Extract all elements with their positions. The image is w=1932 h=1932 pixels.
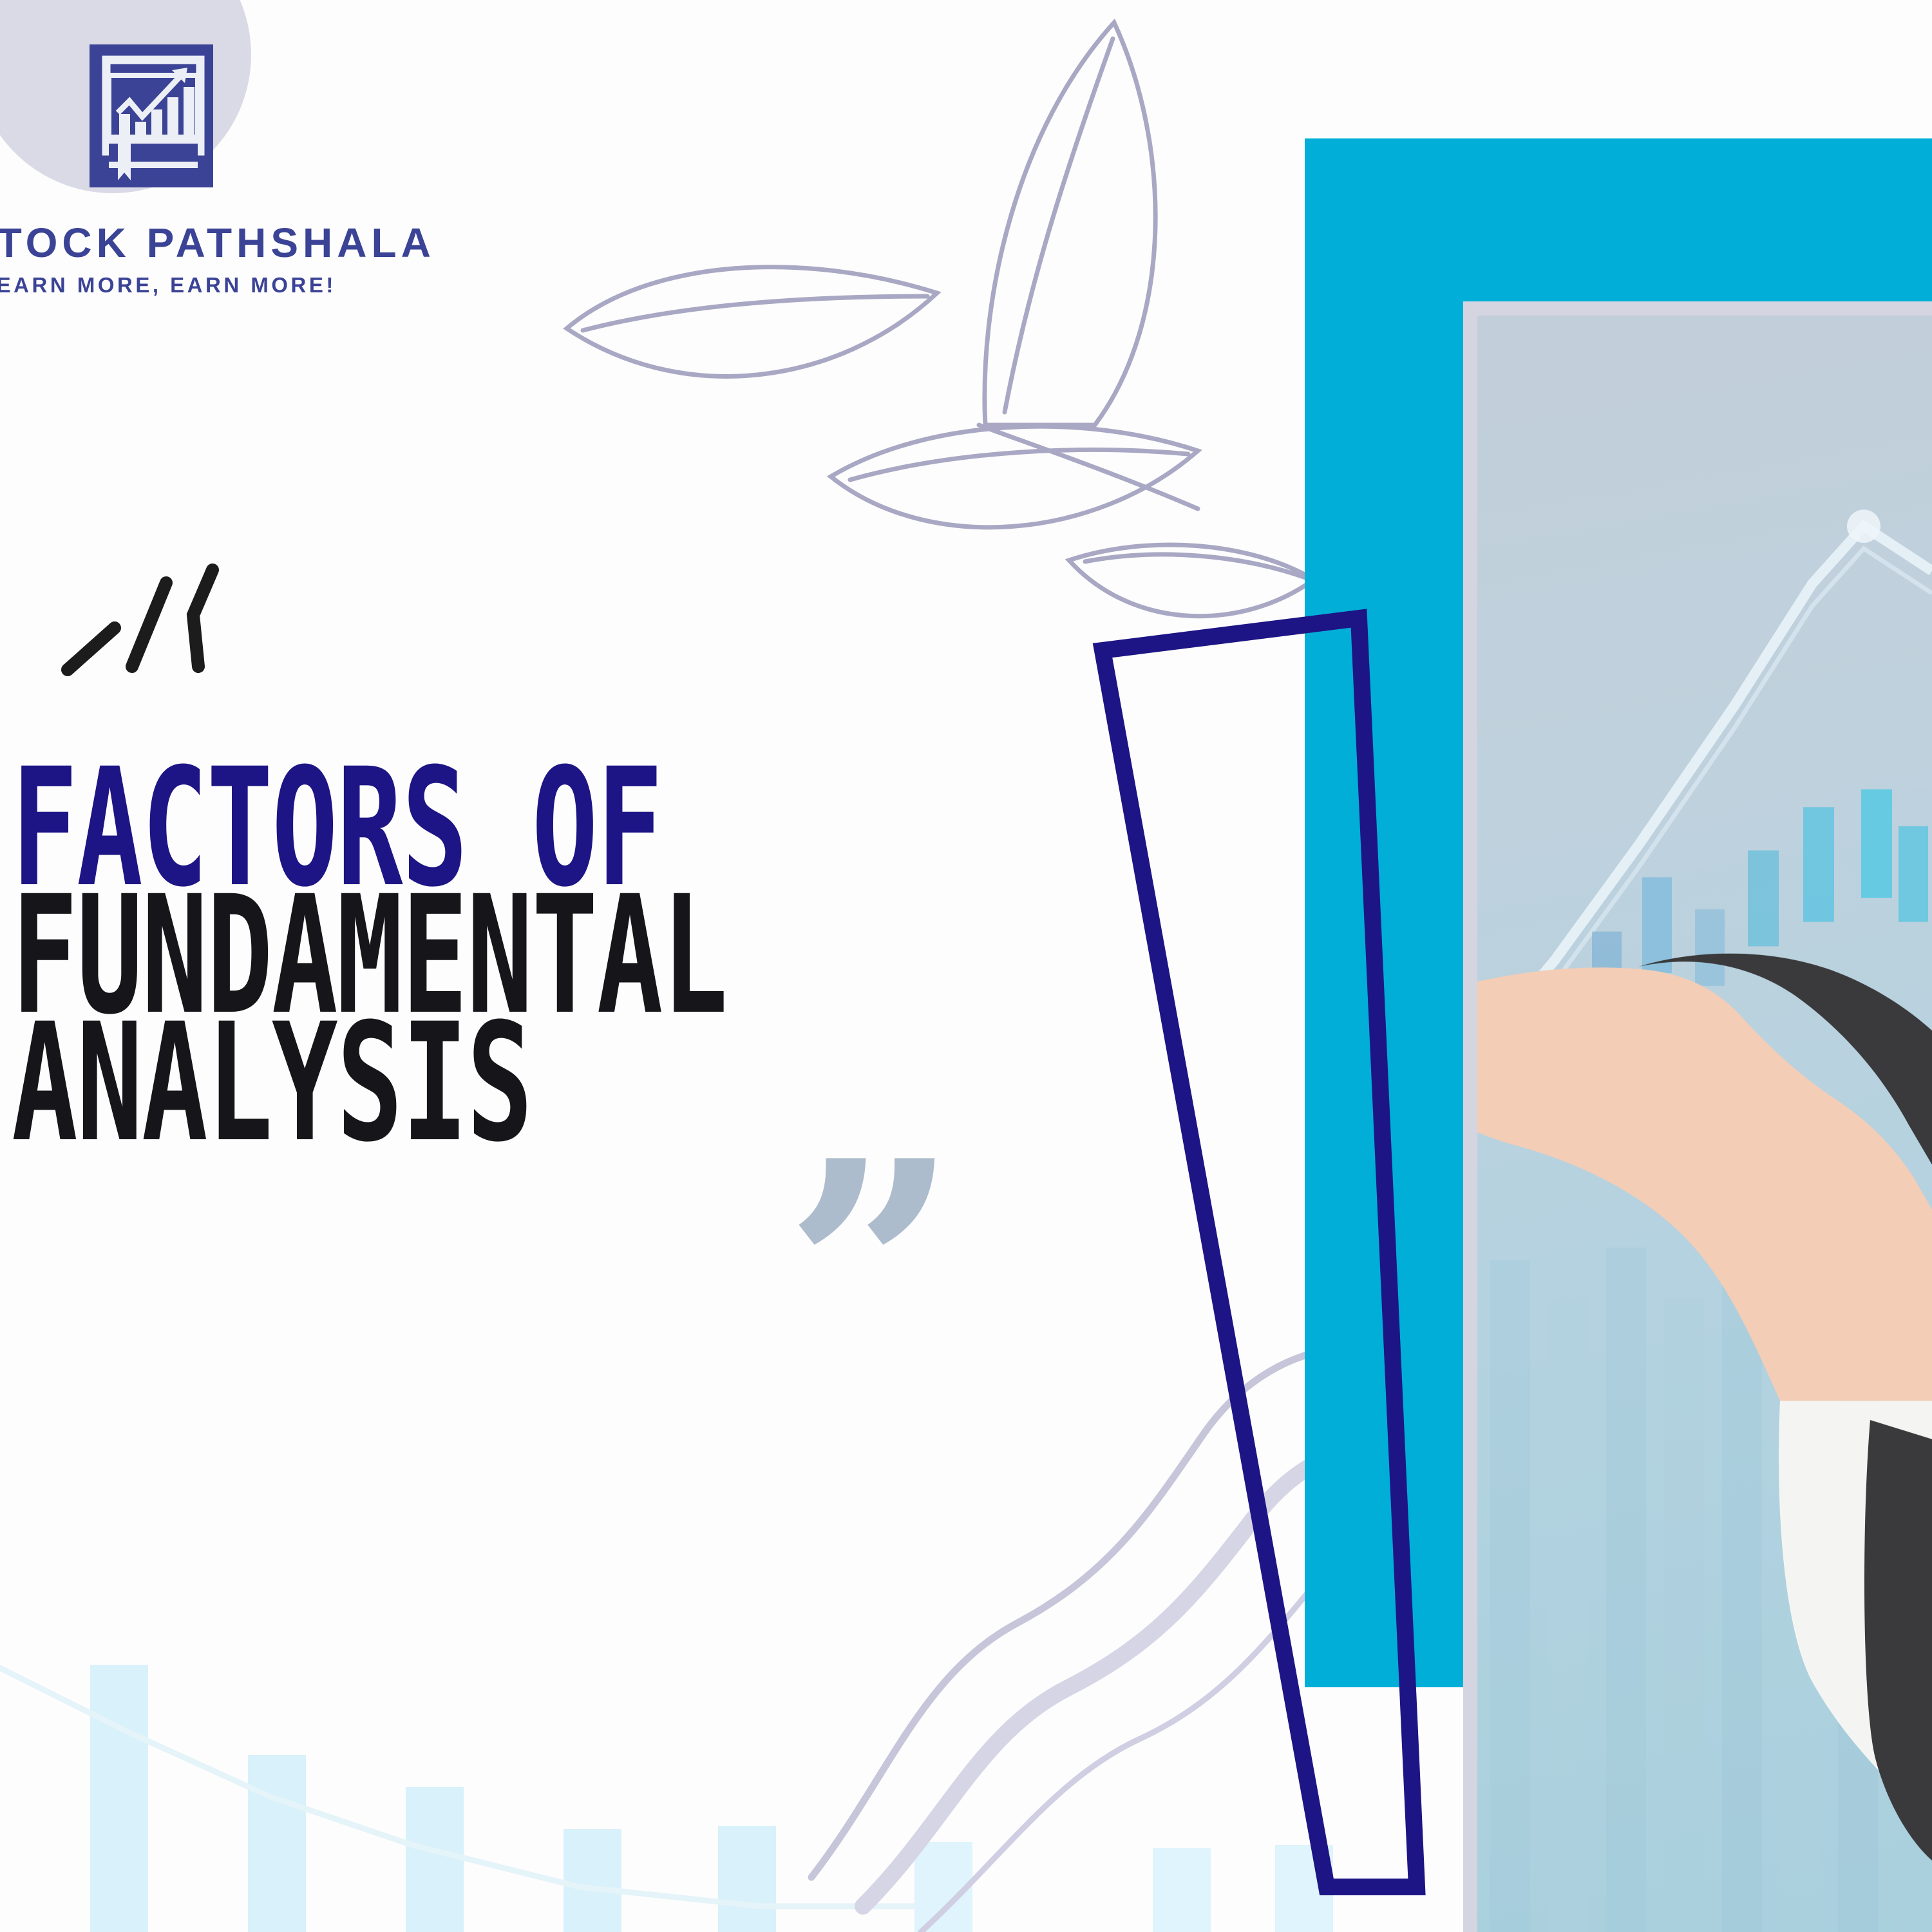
title-line-3: ANALYSIS	[12, 1009, 1186, 1159]
brand-logo[interactable]: STOCK PATHSHALA LEARN MORE, EARN MORE!	[0, 13, 386, 296]
leaf-outline-group	[567, 23, 1314, 616]
tablet-chart	[1477, 316, 1932, 1932]
brand-tagline: LEARN MORE, EARN MORE!	[0, 273, 380, 298]
tablet-device	[1463, 301, 1932, 1932]
book-chart-icon	[87, 42, 216, 190]
page-title: FACTORS OF FUNDAMENTAL ANALYSIS	[12, 753, 1235, 1113]
quotation-mark-icon: ”	[784, 1182, 939, 1363]
hand-photo	[1477, 954, 1932, 1861]
tablet-screen	[1477, 316, 1932, 1932]
emphasis-burst-icon	[68, 570, 213, 670]
poster-canvas: STOCK PATHSHALA LEARN MORE, EARN MORE! F…	[0, 0, 1932, 1932]
background-bar-chart	[0, 1655, 1333, 1932]
brand-name: STOCK PATHSHALA	[0, 219, 364, 267]
